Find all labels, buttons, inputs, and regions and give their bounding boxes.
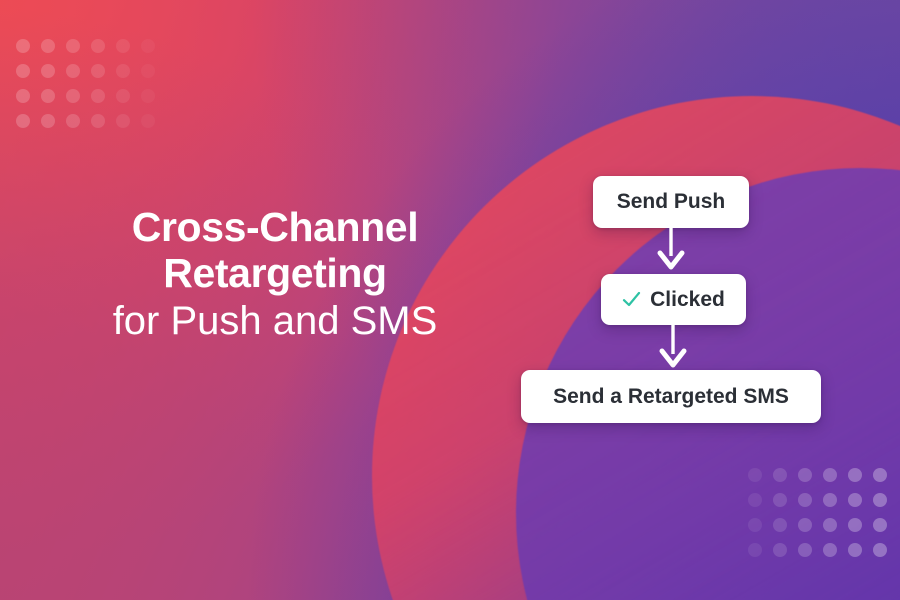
dot (773, 518, 787, 532)
dot (873, 468, 887, 482)
dot (141, 89, 155, 103)
dot (66, 114, 80, 128)
dot (41, 64, 55, 78)
headline: Cross-Channel Retargeting for Push and S… (60, 205, 490, 344)
dot (91, 114, 105, 128)
dot (41, 114, 55, 128)
arrow-down-icon (658, 322, 688, 372)
flow-step-clicked[interactable]: Clicked (601, 274, 746, 325)
dot-grid-bottom-right (742, 462, 892, 562)
dot (91, 89, 105, 103)
dot (848, 518, 862, 532)
arrow-down-icon (656, 226, 686, 274)
dot (16, 89, 30, 103)
dot (873, 493, 887, 507)
dot (773, 493, 787, 507)
dot (91, 39, 105, 53)
flow-step-label: Send Push (617, 190, 726, 214)
dot (823, 543, 837, 557)
dot (16, 64, 30, 78)
headline-line-2: Retargeting (60, 251, 490, 297)
flow-step-label: Send a Retargeted SMS (553, 385, 789, 409)
dot (748, 468, 762, 482)
dot (798, 543, 812, 557)
dot (141, 39, 155, 53)
flow-step-retarget-sms[interactable]: Send a Retargeted SMS (521, 370, 821, 423)
dot (116, 89, 130, 103)
dot (848, 493, 862, 507)
dot (16, 114, 30, 128)
dot (823, 518, 837, 532)
headline-line-3: for Push and SMS (60, 299, 490, 344)
check-icon (622, 290, 641, 309)
dot (116, 64, 130, 78)
flow-step-label: Clicked (650, 288, 725, 312)
promo-banner: Cross-Channel Retargeting for Push and S… (0, 0, 900, 600)
dot (798, 493, 812, 507)
dot (773, 468, 787, 482)
dot (798, 518, 812, 532)
dot (141, 114, 155, 128)
dot-grid-top-left (10, 33, 160, 133)
dot (873, 543, 887, 557)
dot (873, 518, 887, 532)
dot (848, 468, 862, 482)
dot (748, 493, 762, 507)
dot (66, 89, 80, 103)
dot (773, 543, 787, 557)
dot (823, 468, 837, 482)
dot (748, 543, 762, 557)
flow-step-send-push[interactable]: Send Push (593, 176, 749, 228)
dot (66, 39, 80, 53)
dot (16, 39, 30, 53)
dot (41, 89, 55, 103)
dot (848, 543, 862, 557)
dot (798, 468, 812, 482)
dot (66, 64, 80, 78)
dot (823, 493, 837, 507)
dot (141, 64, 155, 78)
dot (41, 39, 55, 53)
dot (116, 114, 130, 128)
headline-line-1: Cross-Channel (60, 205, 490, 251)
dot (91, 64, 105, 78)
dot (116, 39, 130, 53)
dot (748, 518, 762, 532)
